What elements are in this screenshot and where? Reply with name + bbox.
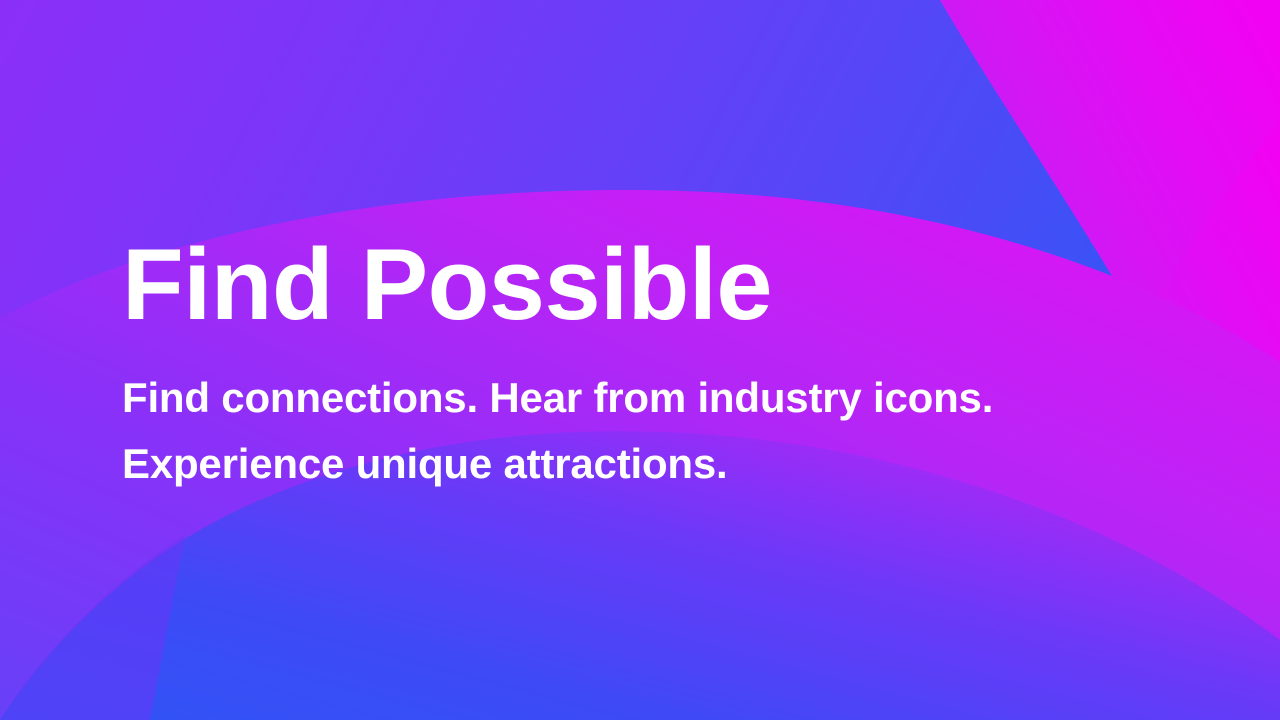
page-title: Find Possible [122, 232, 1122, 339]
hero-subheadline-line-2: Experience unique attractions. [122, 431, 1122, 497]
hero-banner: Find Possible Find connections. Hear fro… [0, 0, 1280, 720]
hero-subheadline-line-1: Find connections. Hear from industry ico… [122, 365, 1122, 431]
hero-copy-block: Find Possible Find connections. Hear fro… [122, 232, 1122, 497]
hero-subheadline: Find connections. Hear from industry ico… [122, 365, 1122, 497]
